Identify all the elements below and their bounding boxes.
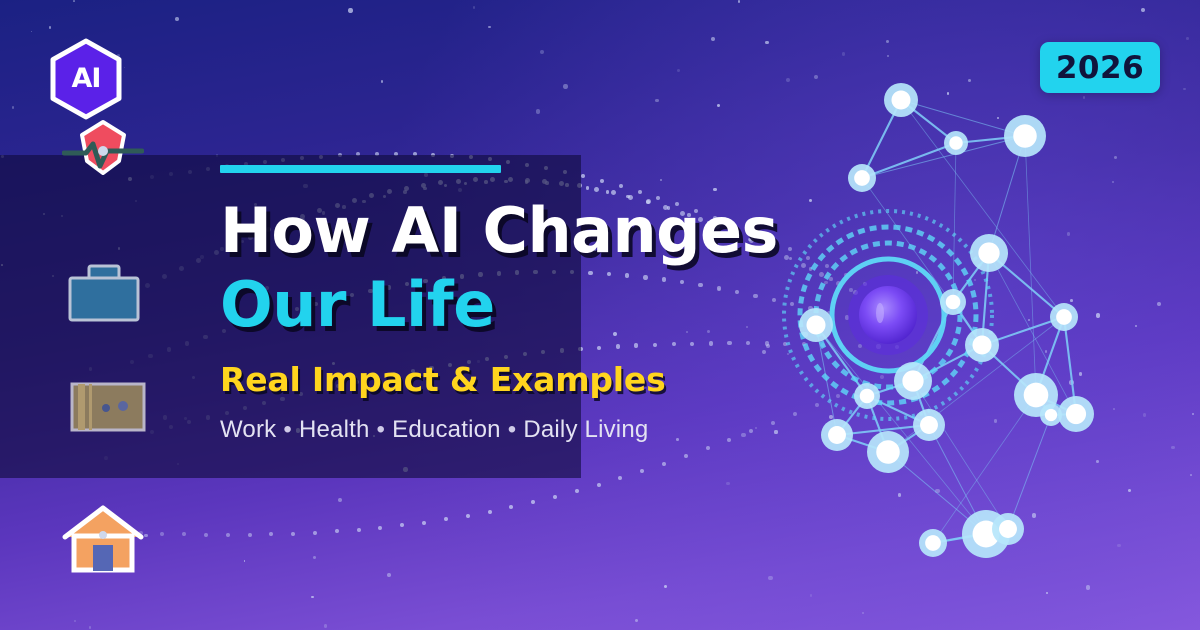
particle-dot <box>422 521 426 525</box>
topic-separator: • <box>501 416 524 443</box>
particle-dot <box>618 476 622 480</box>
topic-item: Education <box>392 416 501 443</box>
particle-dot <box>655 99 658 102</box>
particle-dot <box>726 482 729 485</box>
particle-dot <box>378 526 382 530</box>
topic-item: Work <box>220 416 276 443</box>
particle-dot <box>738 0 740 2</box>
network-node <box>1050 303 1078 331</box>
year-badge[interactable]: 2026 <box>1040 42 1160 93</box>
particle-dot <box>553 495 557 499</box>
particle-dot <box>204 533 208 537</box>
particle-dot <box>348 8 352 12</box>
briefcase-work-icon <box>66 262 142 326</box>
topic-separator: • <box>370 416 393 443</box>
topic-item: Daily Living <box>523 416 648 443</box>
particle-dot <box>640 469 644 473</box>
network-link <box>1008 415 1051 529</box>
particle-dot <box>488 510 492 514</box>
particle-dot <box>717 104 721 108</box>
particle-dot <box>706 446 710 450</box>
book-education-icon <box>68 378 148 436</box>
network-node <box>965 328 999 362</box>
page-title-line2: Our Life <box>220 273 940 336</box>
particle-dot <box>684 454 688 458</box>
particle-dot <box>488 26 490 28</box>
particle-dot <box>313 531 317 535</box>
particle-dot <box>338 498 342 502</box>
particle-dot <box>357 528 361 532</box>
health-heart-pulse-icon <box>62 118 144 178</box>
particle-dot <box>540 50 544 54</box>
particle-dot <box>635 619 638 622</box>
network-node <box>970 234 1008 272</box>
network-node <box>919 529 947 557</box>
network-node <box>940 289 966 315</box>
particle-dot <box>74 620 77 623</box>
particle-dot <box>291 532 295 536</box>
network-node <box>944 131 968 155</box>
particle-dot <box>175 17 179 21</box>
particle-dot <box>182 532 186 536</box>
particle-dot <box>244 560 246 562</box>
particle-dot <box>381 80 383 82</box>
particle-dot <box>324 624 328 628</box>
topic-item: Health <box>299 416 370 443</box>
house-daily-living-icon <box>60 503 146 575</box>
topic-separator: • <box>276 416 299 443</box>
particle-dot <box>89 626 91 628</box>
particle-dot <box>473 6 475 8</box>
network-link <box>1025 136 1036 395</box>
particle-dot <box>311 596 313 598</box>
particle-dot <box>662 462 666 466</box>
particle-dot <box>711 37 715 41</box>
particle-dot <box>226 533 230 537</box>
particle-dot <box>12 106 15 109</box>
accent-bar <box>220 165 501 173</box>
particle-dot <box>509 505 513 509</box>
particle-dot <box>531 500 535 504</box>
network-node <box>992 513 1024 545</box>
page-title-line1: How AI Changes <box>220 199 940 262</box>
particle-dot <box>269 532 273 536</box>
particle-dot <box>31 31 33 33</box>
content-block: How AI Changes Our Life Real Impact & Ex… <box>220 165 940 444</box>
network-node <box>884 83 918 117</box>
topic-list: Work•Health•Education•Daily Living <box>220 416 940 444</box>
particle-dot <box>313 556 316 559</box>
particle-dot <box>400 523 404 527</box>
ai-hexagon-icon <box>48 38 124 120</box>
particle-dot <box>677 69 680 72</box>
particle-dot <box>444 517 448 521</box>
particle-dot <box>664 585 667 588</box>
particle-dot <box>536 109 540 113</box>
particle-dot <box>387 573 391 577</box>
particle-dot <box>597 483 601 487</box>
particle-dot <box>563 84 567 88</box>
banner-root: 2026 AI How AI Changes Our Life Real Imp… <box>0 0 1200 630</box>
year-badge-label: 2026 <box>1056 50 1144 86</box>
particle-dot <box>335 529 339 533</box>
particle-dot <box>575 489 579 493</box>
network-node <box>1040 404 1062 426</box>
particle-dot <box>49 26 52 29</box>
network-node <box>1004 115 1046 157</box>
network-link <box>953 143 956 302</box>
particle-dot <box>466 514 470 518</box>
particle-dot <box>160 532 164 536</box>
particle-dot <box>73 0 75 2</box>
page-subtitle: Real Impact & Examples <box>220 360 940 399</box>
particle-dot <box>248 533 252 537</box>
network-node <box>1058 396 1094 432</box>
particle-dot <box>765 41 768 44</box>
